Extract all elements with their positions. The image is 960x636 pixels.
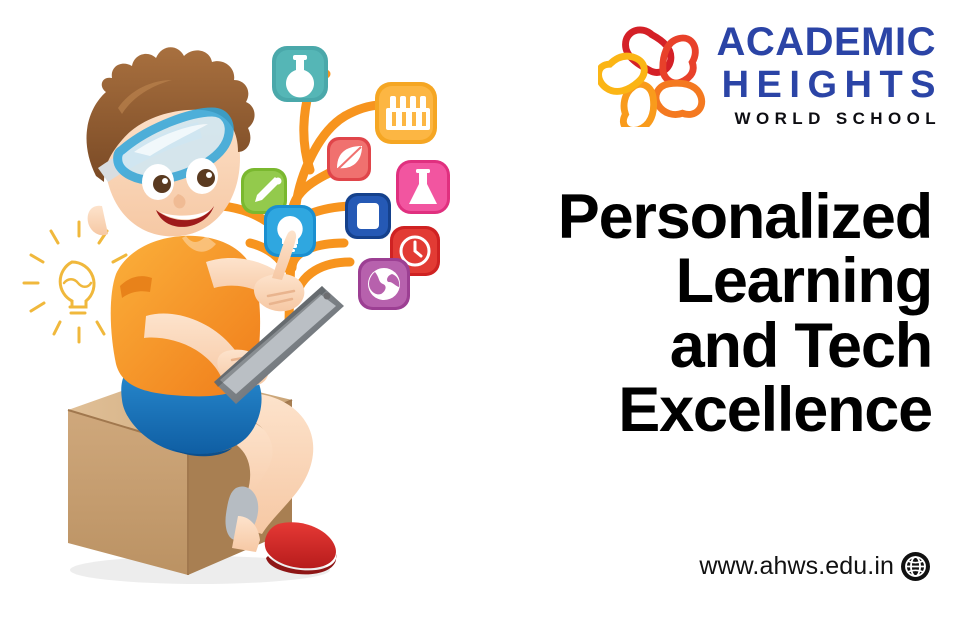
app-icon-flask-round — [272, 46, 328, 102]
logo-line-world-school: WORLD SCHOOL — [735, 110, 941, 127]
illustration — [0, 0, 470, 636]
app-icon-notebook — [345, 193, 391, 239]
poster-canvas: ACADEMIC HEIGHTS WORLD SCHOOL Personaliz… — [0, 0, 960, 636]
app-icon-test-tube-rack — [375, 82, 437, 144]
app-icon-leaf — [327, 137, 371, 181]
website-line[interactable]: www.ahws.edu.in — [699, 552, 930, 581]
logo-mark-icon — [598, 23, 706, 127]
logo-wordmark: ACADEMIC HEIGHTS WORLD SCHOOL — [716, 22, 936, 127]
globe-icon — [901, 552, 930, 581]
logo-line-heights: HEIGHTS — [722, 66, 943, 104]
app-icon-globe — [358, 258, 410, 310]
logo-line-academic: ACADEMIC — [716, 22, 936, 62]
website-url[interactable]: www.ahws.edu.in — [699, 552, 894, 581]
page-title: Personalized Learning and Tech Excellenc… — [412, 185, 932, 442]
logo[interactable]: ACADEMIC HEIGHTS WORLD SCHOOL — [598, 22, 936, 127]
